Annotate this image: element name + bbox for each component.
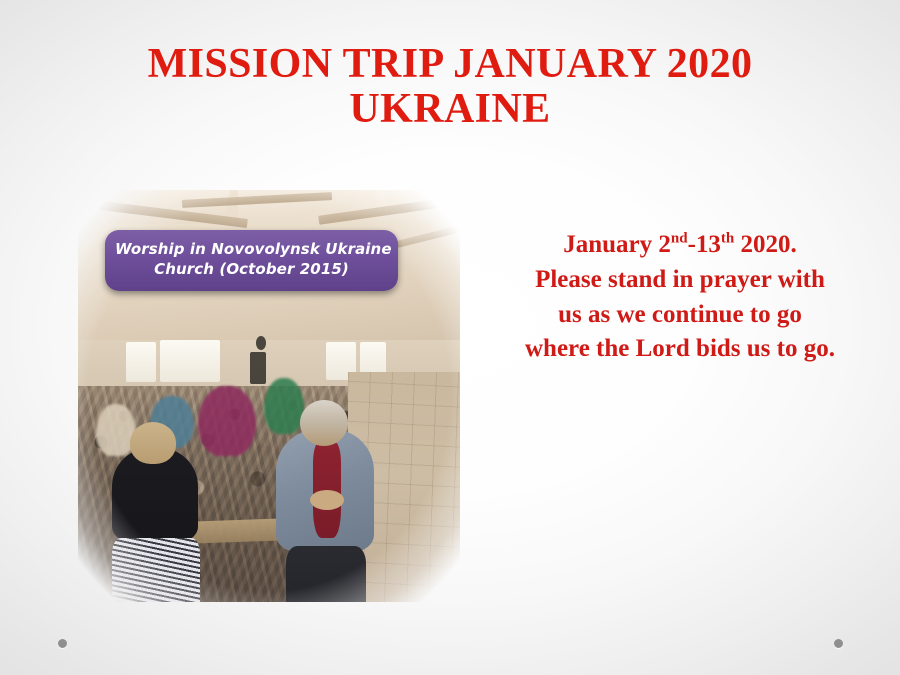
- body-date-prefix: January 2: [563, 231, 671, 258]
- caption-line-2: Church (October 2015): [115, 259, 388, 279]
- title-line-1: MISSION TRIP JANUARY 2020: [60, 42, 840, 87]
- caption-line-1: Worship in Novovolynsk Ukraine: [115, 239, 388, 259]
- pulpit: [250, 352, 266, 384]
- garment-magenta: [198, 386, 256, 456]
- wall-panel-left: [126, 342, 156, 382]
- wall-panel-mid: [160, 340, 220, 382]
- body-line-4: where the Lord bids us to go.: [478, 332, 882, 367]
- foreground-man-hands: [310, 490, 344, 510]
- foreground-man-trousers: [286, 546, 366, 602]
- foreground-woman-head: [130, 422, 176, 464]
- bullet-dot-left-icon: [58, 639, 67, 648]
- title-line-2: UKRAINE: [60, 87, 840, 132]
- presentation-slide: MISSION TRIP JANUARY 2020 UKRAINE: [0, 0, 900, 675]
- body-line-3: us as we continue to go: [478, 298, 882, 333]
- slide-body-text: January 2nd-13th 2020. Please stand in p…: [478, 228, 882, 367]
- body-line-dates: January 2nd-13th 2020.: [478, 228, 882, 263]
- bullet-dot-right-icon: [834, 639, 843, 648]
- body-date-suffix: 2020.: [734, 231, 797, 258]
- foreground-woman-skirt: [112, 538, 200, 602]
- body-line-2: Please stand in prayer with: [478, 263, 882, 298]
- speaker-figure: [256, 336, 266, 350]
- foreground-man-head: [300, 400, 348, 446]
- body-date-middle: -13: [688, 231, 721, 258]
- body-date-sup-1: nd: [671, 231, 688, 247]
- garment-green: [264, 378, 304, 434]
- body-date-sup-2: th: [721, 231, 734, 247]
- photo-caption-banner: Worship in Novovolynsk Ukraine Church (O…: [105, 230, 398, 291]
- page-title: MISSION TRIP JANUARY 2020 UKRAINE: [60, 42, 840, 132]
